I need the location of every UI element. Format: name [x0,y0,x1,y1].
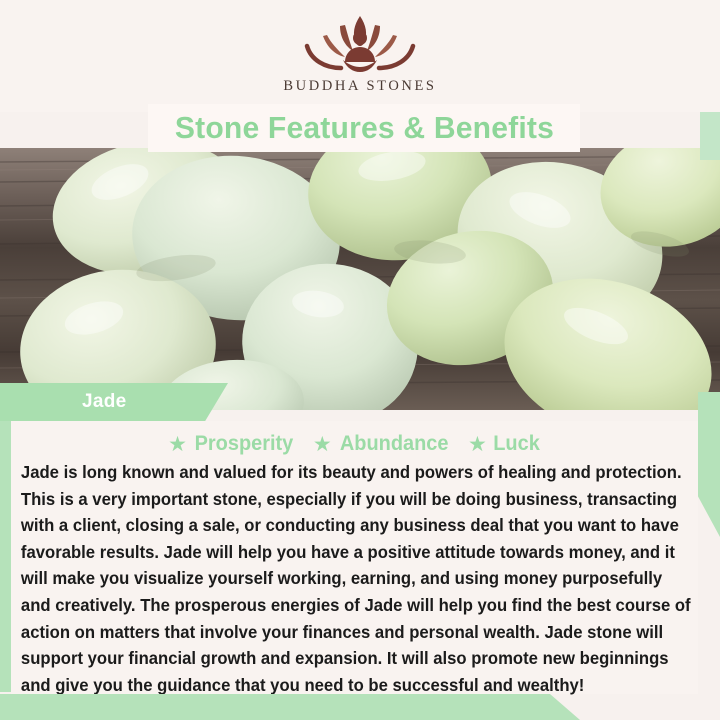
star-icon: ★ [468,434,487,455]
stone-info-poster: BUDDHA STONES Stone Features & Benefits … [0,0,720,720]
decorative-frame-right-strip [698,392,720,537]
star-icon: ★ [168,434,187,455]
benefit-item: ★ Luck [468,432,541,456]
stone-description: Jade is long known and valued for its be… [19,459,695,698]
stone-name-band: Jade [0,383,228,421]
lotus-meditation-icon [285,10,435,76]
benefit-label: Luck [493,432,540,456]
decorative-frame-left-strip [0,392,11,692]
page-title: Stone Features & Benefits [174,110,553,146]
content-panel: ★ Prosperity ★ Abundance ★ Luck Jade is … [11,421,698,694]
benefit-label: Prosperity [195,432,294,456]
benefit-item: ★ Prosperity [168,432,296,456]
stone-name-label: Jade [82,391,127,413]
jade-stones-photo [0,148,720,410]
benefits-row: ★ Prosperity ★ Abundance ★ Luck [19,432,690,456]
brand-name: BUDDHA STONES [283,78,436,95]
title-banner: Stone Features & Benefits [148,104,580,152]
benefit-item: ★ Abundance [313,432,451,456]
benefit-label: Abundance [340,432,449,456]
brand-logo-area: BUDDHA STONES [0,0,720,112]
star-icon: ★ [313,434,332,455]
